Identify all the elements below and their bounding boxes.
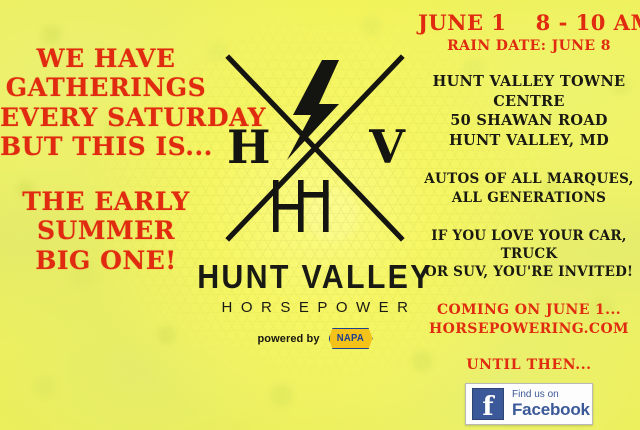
coming-line: COMING ON JUNE 1... — [418, 301, 640, 320]
address-line: HUNT VALLEY TOWNE CENTRE — [418, 72, 640, 111]
right-info-column: JUNE 1 8 - 10 AM RAIN DATE: JUNE 8 HUNT … — [418, 12, 640, 425]
gatherings-line: EVERY SATURDAY — [0, 103, 212, 132]
hunt-valley-logo-block: H V HUNT VALLEY HORSEPOWER powered by NA… — [186, 44, 444, 349]
rain-date: RAIN DATE: JUNE 8 — [418, 38, 640, 54]
facebook-badge[interactable]: f Find us on Facebook — [465, 383, 593, 425]
gatherings-line: GATHERINGS — [0, 73, 212, 102]
invite-copy: IF YOU LOVE YOUR CAR, TRUCK OR SUV, YOU'… — [418, 227, 640, 282]
logo-letter-v: V — [369, 124, 405, 170]
venue-address: HUNT VALLEY TOWNE CENTRE 50 SHAWAN ROAD … — [418, 72, 640, 150]
gatherings-line: WE HAVE — [0, 44, 212, 73]
facebook-badge-text: Find us on Facebook — [512, 390, 590, 418]
marques-line: ALL GENERATIONS — [418, 189, 640, 207]
facebook-f-glyph: f — [482, 395, 493, 419]
facebook-name-label: Facebook — [512, 401, 590, 418]
napa-logo: NAPA — [329, 328, 373, 349]
event-poster: WE HAVE GATHERINGS EVERY SATURDAY BUT TH… — [0, 0, 640, 430]
big-one-copy: THE EARLY SUMMER BIG ONE! — [0, 187, 212, 275]
wordmark: HUNT VALLEY HORSEPOWER — [186, 258, 444, 316]
website-url[interactable]: HORSEPOWERING.COM — [418, 320, 640, 339]
marques-line: AUTOS OF ALL MARQUES, — [418, 170, 640, 188]
big-one-line: THE EARLY — [0, 187, 212, 216]
logo-mark: H V — [215, 44, 415, 252]
website-copy[interactable]: COMING ON JUNE 1... HORSEPOWERING.COM — [418, 301, 640, 339]
big-one-line: SUMMER — [0, 216, 212, 245]
sponsor-row: powered by NAPA — [186, 328, 444, 349]
shift-pattern-icon — [273, 180, 329, 232]
event-headline: JUNE 1 8 - 10 AM — [418, 12, 640, 34]
left-headline-block: WE HAVE GATHERINGS EVERY SATURDAY BUT TH… — [0, 44, 212, 275]
gatherings-copy: WE HAVE GATHERINGS EVERY SATURDAY BUT TH… — [0, 44, 212, 161]
powered-by-label: powered by — [257, 333, 319, 345]
until-then-label: UNTIL THEN... — [418, 357, 640, 373]
gatherings-line: BUT THIS IS... — [0, 132, 212, 161]
wordmark-sub: HORSEPOWER — [186, 299, 444, 316]
marques-copy: AUTOS OF ALL MARQUES, ALL GENERATIONS — [418, 170, 640, 206]
wordmark-main: HUNT VALLEY — [196, 258, 433, 296]
address-line: HUNT VALLEY, MD — [418, 131, 640, 151]
big-one-line: BIG ONE! — [0, 246, 212, 275]
invite-line: IF YOU LOVE YOUR CAR, TRUCK — [418, 227, 640, 263]
napa-logo-text: NAPA — [337, 333, 364, 344]
logo-letter-h: H — [227, 124, 270, 170]
facebook-find-us-label: Find us on — [512, 390, 590, 400]
address-line: 50 SHAWAN ROAD — [418, 111, 640, 131]
invite-line: OR SUV, YOU'RE INVITED! — [418, 263, 640, 281]
facebook-icon[interactable]: f — [472, 388, 504, 420]
